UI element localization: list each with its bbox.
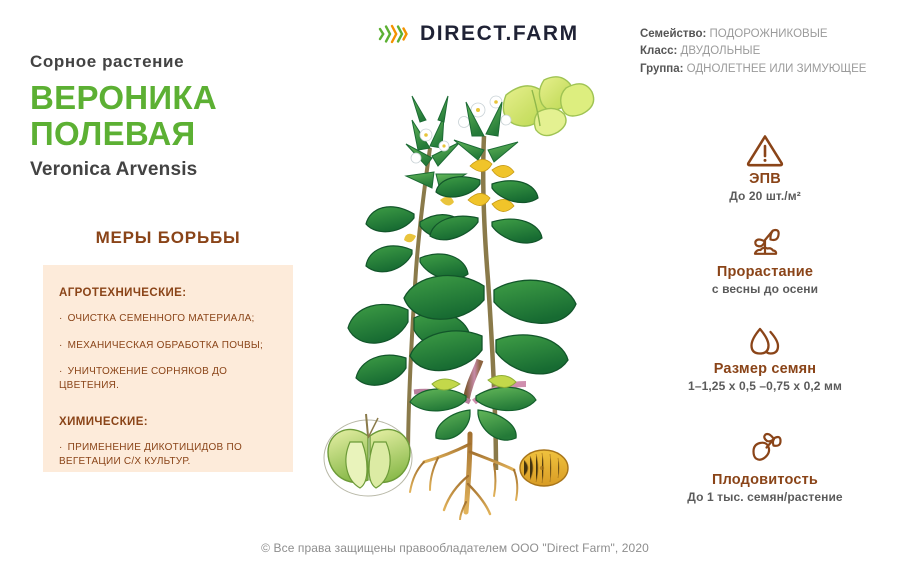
measure-item: · МЕХАНИЧЕСКАЯ ОБРАБОТКА ПОЧВЫ; xyxy=(59,339,279,353)
bullet-icon: · xyxy=(59,442,63,453)
measure-item-text: ПРИМЕНЕНИЕ ДИКОТИЦИДОВ ПО ВЕГЕТАЦИИ С/Х … xyxy=(59,442,242,467)
measure-item: · ОЧИСТКА СЕМЕННОГО МАТЕРИАЛА; xyxy=(59,312,279,326)
taxonomy-block: Семейство: ПОДОРОЖНИКОВЫЕ Класс: ДВУДОЛЬ… xyxy=(640,26,905,78)
stat-value: с весны до осени xyxy=(620,282,910,296)
taxonomy-label: Семейство: xyxy=(640,28,706,40)
kicker-label: Сорное растение xyxy=(30,52,330,72)
plant-root-system xyxy=(410,360,536,520)
seed-capsule-cross-section xyxy=(324,414,412,496)
stat-title: Размер семян xyxy=(620,361,910,377)
stat-block-fecundity: Плодовитость До 1 тыс. семян/растение xyxy=(620,427,910,504)
measures-box: АГРОТЕХНИЧЕСКИЕ: · ОЧИСТКА СЕМЕННОГО МАТ… xyxy=(43,265,293,472)
germinating-seed-icon xyxy=(620,427,910,469)
page-title: ВЕРОНИКА ПОЛЕВАЯ xyxy=(30,80,330,151)
taxonomy-label: Группа: xyxy=(640,63,683,75)
title-block: Сорное растение ВЕРОНИКА ПОЛЕВАЯ Veronic… xyxy=(30,52,330,181)
measure-item-text: ОЧИСТКА СЕМЕННОГО МАТЕРИАЛА; xyxy=(68,313,255,324)
seedling-sprout-icon xyxy=(620,219,910,261)
stat-block-seed-size: Размер семян 1–1,25 x 0,5 –0,75 x 0,2 мм xyxy=(620,316,910,393)
warning-triangle-icon xyxy=(620,126,910,168)
taxonomy-value: ДВУДОЛЬНЫЕ xyxy=(681,45,761,57)
stat-block-germination: Прорастание с весны до осени xyxy=(620,219,910,296)
stat-title: ЭПВ xyxy=(620,171,910,187)
measure-item-text: МЕХАНИЧЕСКАЯ ОБРАБОТКА ПОЧВЫ; xyxy=(68,340,263,351)
measures-group-heading-agrotech: АГРОТЕХНИЧЕСКИЕ: xyxy=(59,287,279,299)
measure-item: · УНИЧТОЖЕНИЕ СОРНЯКОВ ДО ЦВЕТЕНИЯ. xyxy=(59,365,279,392)
taxonomy-row-family: Семейство: ПОДОРОЖНИКОВЫЕ xyxy=(640,26,905,43)
plant-name-line-2: ПОЛЕВАЯ xyxy=(30,115,196,152)
stat-title: Прорастание xyxy=(620,264,910,280)
measures-group-heading-chemical: ХИМИЧЕСКИЕ: xyxy=(59,416,279,428)
seed-detail xyxy=(520,450,568,486)
latin-name: Veronica Arvensis xyxy=(30,159,330,181)
stat-value: До 20 шт./м² xyxy=(620,189,910,203)
measure-item-text: УНИЧТОЖЕНИЕ СОРНЯКОВ ДО ЦВЕТЕНИЯ. xyxy=(59,366,227,391)
taxonomy-row-class: Класс: ДВУДОЛЬНЫЕ xyxy=(640,43,905,60)
bullet-icon: · xyxy=(59,313,63,324)
seed-capsule-detail xyxy=(503,77,593,136)
taxonomy-value: ПОДОРОЖНИКОВЫЕ xyxy=(710,28,828,40)
taxonomy-value: ОДНОЛЕТНЕЕ ИЛИ ЗИМУЮЩЕЕ xyxy=(687,63,867,75)
veronica-arvensis-botanical-illustration xyxy=(320,40,620,520)
two-seeds-icon xyxy=(620,316,910,358)
stat-block-threshold: ЭПВ До 20 шт./м² xyxy=(620,126,910,203)
stat-title: Плодовитость xyxy=(620,472,910,488)
measure-item: · ПРИМЕНЕНИЕ ДИКОТИЦИДОВ ПО ВЕГЕТАЦИИ С/… xyxy=(59,441,279,468)
taxonomy-row-group: Группа: ОДНОЛЕТНЕЕ ИЛИ ЗИМУЮЩЕЕ xyxy=(640,61,905,78)
bullet-icon: · xyxy=(59,340,63,351)
plant-name-line-1: ВЕРОНИКА xyxy=(30,79,217,116)
measures-title: МЕРЫ БОРЬБЫ xyxy=(43,228,293,248)
poster-canvas: DIRECT.FARM Сорное растение ВЕРОНИКА ПОЛ… xyxy=(0,0,910,583)
bullet-icon: · xyxy=(59,366,63,377)
footer-copyright: © Все права защищены правообладателем ОО… xyxy=(0,541,910,555)
stat-value: До 1 тыс. семян/растение xyxy=(620,490,910,504)
taxonomy-label: Класс: xyxy=(640,45,677,57)
stat-value: 1–1,25 x 0,5 –0,75 x 0,2 мм xyxy=(620,379,910,393)
